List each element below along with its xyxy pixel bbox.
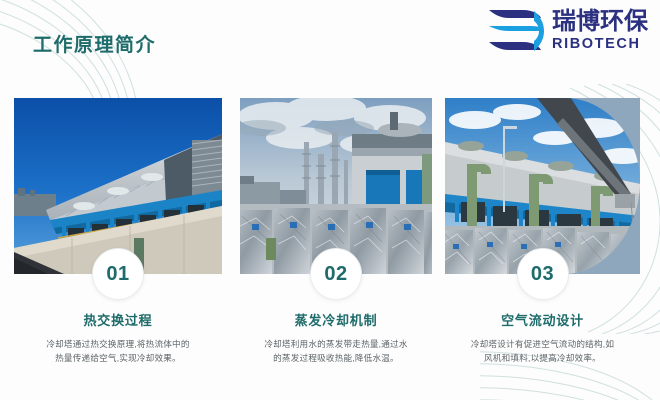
logo-text-block: 瑞博环保 RIBOTECH — [552, 10, 648, 52]
ribotech-wave-mark-icon — [487, 8, 545, 54]
card-03[interactable]: 03 空气流动设计 冷却塔设计有促进空气流动的结构,如风机和填料,以提高冷却效率… — [445, 98, 640, 366]
card-number: 02 — [324, 263, 347, 286]
logo-name-cn: 瑞博环保 — [552, 10, 648, 34]
card-number: 01 — [106, 263, 129, 286]
card-body-text: 冷却塔设计有促进空气流动的结构,如风机和填料,以提高冷却效率。 — [467, 338, 619, 366]
card-02[interactable]: 02 蒸发冷却机制 冷却塔利用水的蒸发带走热量,通过水的蒸发过程吸收热能,降低水… — [240, 98, 432, 366]
card-number-badge: 01 — [92, 248, 144, 300]
card-01[interactable]: 01 热交换过程 冷却塔通过热交换原理,将热流体中的热量传递给空气,实现冷却效果… — [14, 98, 222, 366]
card-title: 空气流动设计 — [445, 310, 640, 329]
card-title: 蒸发冷却机制 — [240, 310, 432, 329]
card-body-text: 冷却塔通过热交换原理,将热流体中的热量传递给空气,实现冷却效果。 — [43, 338, 193, 366]
card-number-badge: 02 — [310, 248, 362, 300]
card-number: 03 — [531, 263, 554, 286]
card-title: 热交换过程 — [14, 310, 222, 329]
brand-logo: 瑞博环保 RIBOTECH — [487, 8, 648, 54]
slide-header: 工作原理简介 瑞博环保 RIBOTECH — [0, 0, 660, 84]
logo-name-en: RIBOTECH — [552, 37, 648, 52]
slide-root: 工作原理简介 瑞博环保 RIBOTECH — [0, 0, 660, 400]
cards-row: 01 热交换过程 冷却塔通过热交换原理,将热流体中的热量传递给空气,实现冷却效果… — [0, 98, 660, 378]
card-body-text: 冷却塔利用水的蒸发带走热量,通过水的蒸发过程吸收热能,降低水温。 — [260, 338, 412, 366]
page-title: 工作原理简介 — [33, 30, 156, 57]
card-number-badge: 03 — [517, 248, 569, 300]
